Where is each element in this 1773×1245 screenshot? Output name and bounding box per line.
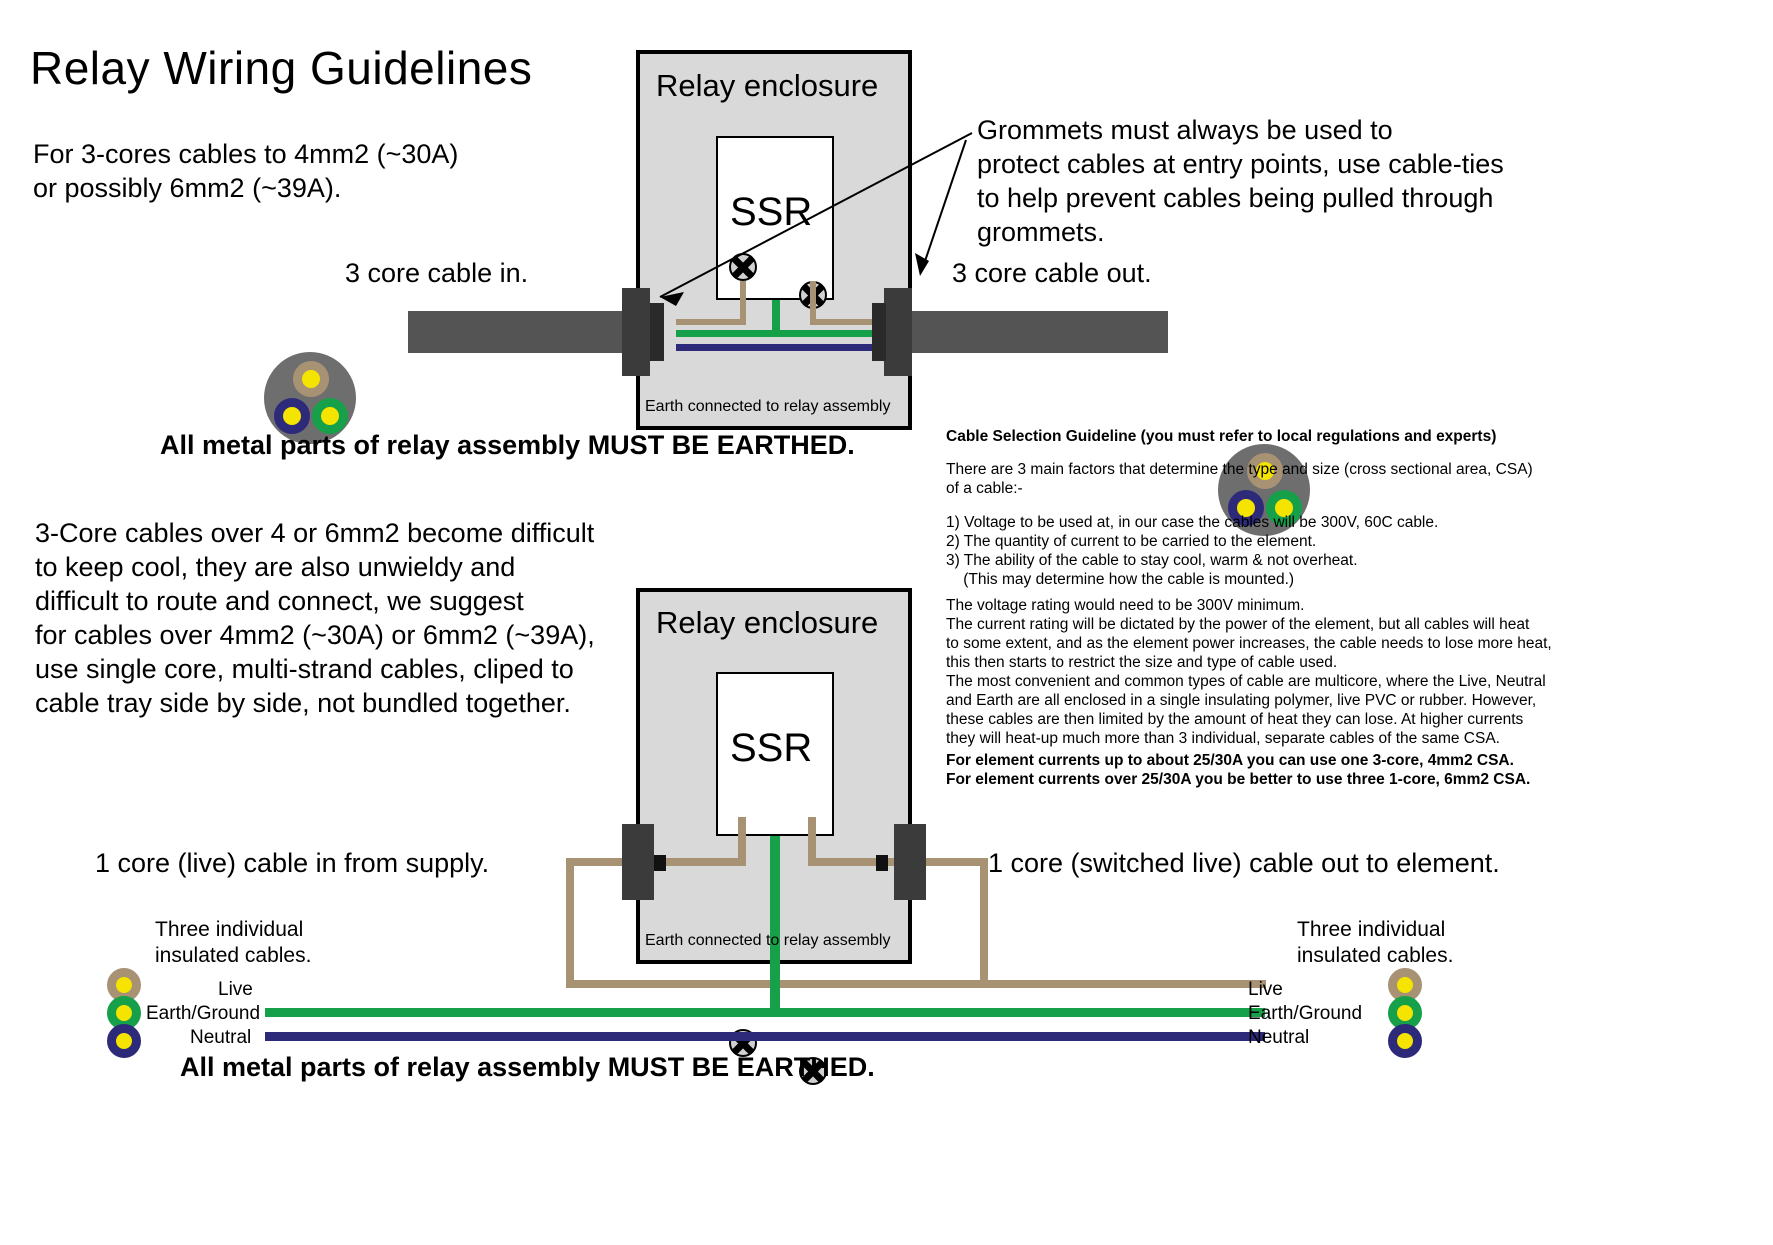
- single-core-neutral-right: [1388, 1024, 1422, 1058]
- wire-label-live-left: Live: [218, 979, 253, 1001]
- cable-tie-right-bottom: [876, 855, 888, 871]
- wire-label-live-right: Live: [1248, 979, 1283, 1001]
- wire-label-earth-right: Earth/Ground: [1248, 1003, 1362, 1025]
- earth-bus-bottom: [265, 1008, 1265, 1017]
- guideline-intro: There are 3 main factors that determine …: [946, 460, 1533, 498]
- guideline-factors: 1) Voltage to be used at, in our case th…: [946, 513, 1438, 589]
- wire-label-neutral-right: Neutral: [1248, 1027, 1309, 1049]
- single-core-neutral-left: [107, 1024, 141, 1058]
- live-out-to-element-bottom: [980, 980, 1266, 988]
- wire-label-earth-left: Earth/Ground: [146, 1003, 260, 1025]
- three-individual-left: Three individual insulated cables.: [155, 917, 311, 969]
- three-individual-right: Three individual insulated cables.: [1297, 917, 1453, 969]
- earth-warning-top: All metal parts of relay assembly MUST B…: [160, 430, 855, 461]
- enclosure-title-bottom: Relay enclosure: [656, 605, 878, 641]
- live-in-drop-bottom: [566, 858, 574, 986]
- ssr-label-bottom: SSR: [730, 726, 812, 771]
- wire-label-neutral-left: Neutral: [190, 1027, 251, 1049]
- earth-warning-bottom: All metal parts of relay assembly MUST B…: [180, 1052, 875, 1083]
- guideline-heading: Cable Selection Guideline (you must refe…: [946, 427, 1496, 446]
- grommet-right-bottom: [894, 824, 926, 900]
- cable-out-label-bottom: 1 core (switched live) cable out to elem…: [988, 846, 1500, 880]
- grommet-left-bottom: [622, 824, 654, 900]
- earth-caption-bottom: Earth connected to relay assembly: [645, 932, 890, 950]
- neutral-bus-bottom: [265, 1032, 1265, 1041]
- middle-note: 3-Core cables over 4 or 6mm2 become diff…: [35, 516, 595, 720]
- guideline-conclusion: For element currents up to about 25/30A …: [946, 751, 1530, 789]
- earth-trunk-bottom: [770, 836, 780, 1010]
- cable-in-label-bottom: 1 core (live) cable in from supply.: [95, 846, 489, 880]
- guideline-body: The voltage rating would need to be 300V…: [946, 596, 1552, 748]
- live-out-drop-bottom: [980, 858, 988, 986]
- cable-tie-left-bottom: [654, 855, 666, 871]
